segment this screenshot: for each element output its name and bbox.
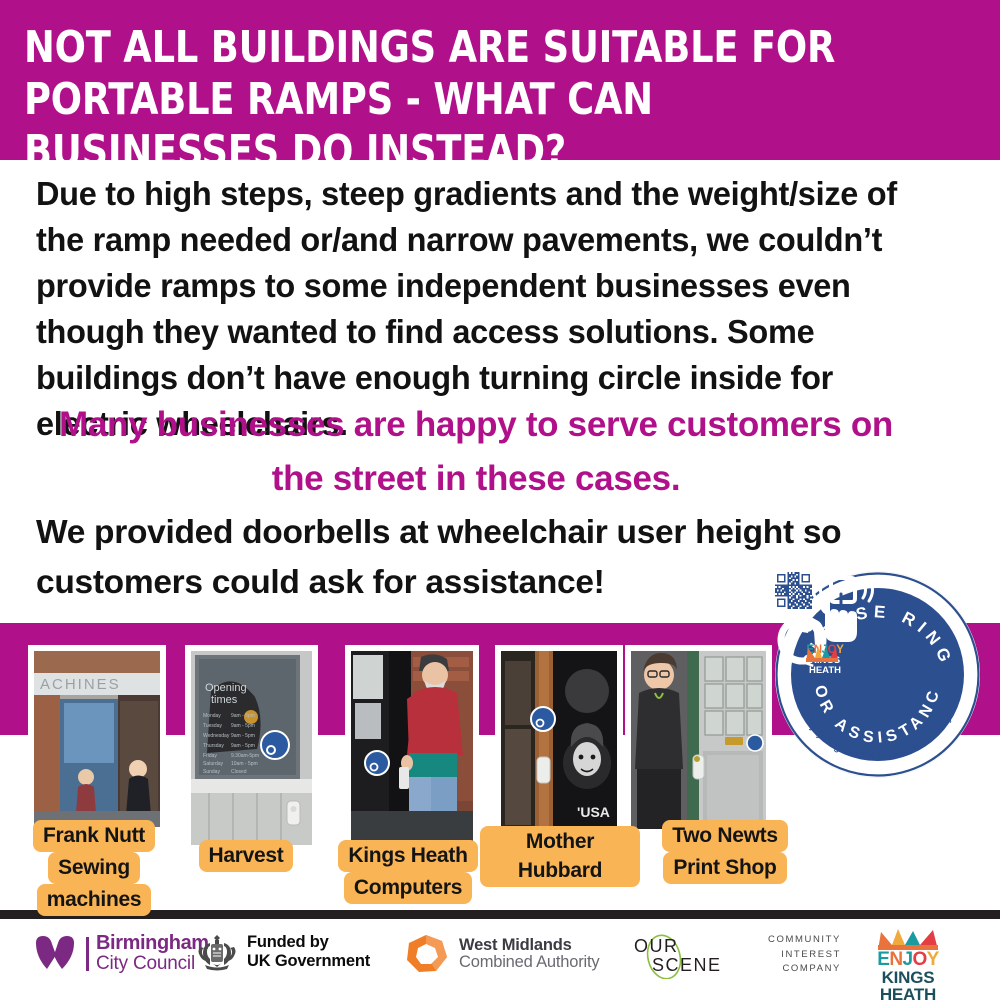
- caption-line: Computers: [344, 872, 472, 904]
- please-ring-for-assistance-badge[interactable]: PLEASE RING FOR ASSISTANCE enjoykingshea…: [775, 572, 980, 777]
- svg-text:Tuesday: Tuesday: [203, 723, 222, 729]
- shopfront-photo-harvest: Opening times Monday9am - 5pm Tuesday9am…: [191, 651, 312, 845]
- ekh-kings-text: KINGS: [876, 969, 940, 986]
- photo-caption-3: Kings Heath Computers: [338, 840, 478, 904]
- svg-text:Friday: Friday: [203, 753, 217, 759]
- svg-text:Opening: Opening: [205, 682, 247, 694]
- logo-line-2: Combined Authority: [459, 954, 599, 971]
- svg-text:ACHINES: ACHINES: [40, 676, 121, 693]
- logo-uk-government: Funded by UK Government: [196, 933, 370, 971]
- crown-icon: [805, 645, 839, 662]
- photo-image-4: 'USA: [501, 651, 617, 831]
- photo-frame-5: [625, 645, 772, 835]
- svg-text:9.30am-5pm: 9.30am-5pm: [231, 753, 259, 759]
- poster-canvas: NOT ALL BUILDINGS ARE SUITABLE FOR PORTA…: [0, 0, 1000, 1000]
- photo-caption-2: Harvest: [185, 840, 307, 872]
- badge-logo-heath: HEATH: [805, 666, 845, 676]
- shopfront-photo-kings-heath-computers: [351, 651, 473, 846]
- svg-text:Sunday: Sunday: [203, 769, 220, 775]
- footer-logo-bar: Birmingham City Council: [0, 919, 1000, 1000]
- photo-image-3: [351, 651, 473, 846]
- caption-line: Frank Nutt: [33, 820, 155, 852]
- badge-enjoy-kings-heath-logo: ENJOY KINGS HEATH: [805, 645, 845, 676]
- svg-text:Closed: Closed: [231, 769, 247, 775]
- svg-text:Wednesday: Wednesday: [203, 733, 230, 739]
- shopfront-photo-mother-hubbard: 'USA: [501, 651, 617, 831]
- photo-frame-3: [345, 645, 479, 852]
- highlight-paragraph: Many businesses are happy to serve custo…: [36, 398, 976, 506]
- photo-image-2: Opening times Monday9am - 5pm Tuesday9am…: [191, 651, 312, 845]
- logo-line-2: UK Government: [247, 952, 370, 971]
- cic-line-2: INTEREST: [768, 948, 841, 963]
- svg-text:9am - 5pm: 9am - 5pm: [231, 743, 255, 749]
- photo-caption-5: Two Newts Print Shop: [660, 820, 790, 884]
- birmingham-heart-icon: [34, 935, 82, 973]
- photo-caption-4: Mother Hubbard: [480, 826, 640, 887]
- logo-line-2: City Council: [96, 954, 209, 974]
- closing-paragraph: We provided doorbells at wheelchair user…: [36, 508, 856, 608]
- svg-text:OUR: OUR: [634, 936, 679, 956]
- logo-line-1: Funded by: [247, 933, 370, 952]
- caption-line: Two Newts: [662, 820, 787, 852]
- photo-frame-1: ACHINES: [28, 645, 166, 833]
- ekh-logo-block: ENJOY KINGS HEATH: [876, 928, 940, 1000]
- shopfront-photo-two-newts: [631, 651, 766, 829]
- logo-line-1: Birmingham: [96, 933, 209, 954]
- our-scene-wordmark-icon: OUR SCENE: [632, 931, 754, 979]
- svg-text:times: times: [211, 694, 238, 706]
- photo-frame-4: 'USA: [495, 645, 623, 837]
- caption-line: Print Shop: [663, 852, 786, 884]
- photo-frame-2: Opening times Monday9am - 5pm Tuesday9am…: [185, 645, 318, 851]
- caption-line: machines: [37, 884, 151, 916]
- svg-text:10am - 5pm: 10am - 5pm: [231, 761, 258, 767]
- svg-text:9am - 5pm: 9am - 5pm: [231, 723, 255, 729]
- shopfront-photo-frank-nutt: ACHINES: [34, 651, 160, 827]
- logo-line-1: West Midlands: [459, 937, 599, 954]
- cic-line-3: COMPANY: [768, 962, 841, 977]
- svg-text:Thursday: Thursday: [203, 743, 224, 749]
- wmca-hexagon-icon: [402, 933, 450, 975]
- caption-line: Kings Heath: [338, 840, 477, 872]
- ekh-heath-text: HEATH: [876, 986, 940, 1000]
- photo-image-5: [631, 651, 766, 829]
- photo-caption-1: Frank Nutt Sewing machines: [24, 820, 164, 916]
- svg-text:9am - 5pm: 9am - 5pm: [231, 713, 255, 719]
- logo-enjoy-kings-heath: ENJOY KINGS HEATH: [876, 928, 940, 1000]
- ukgov-logo-text: Funded by UK Government: [247, 933, 370, 971]
- svg-text:'USA: 'USA: [577, 804, 610, 820]
- royal-coat-of-arms-icon: [196, 933, 238, 971]
- logo-our-scene: OUR SCENE COMMUNITY INTEREST COMPANY: [632, 931, 841, 979]
- logo-west-midlands-combined-authority: West Midlands Combined Authority: [402, 933, 599, 975]
- birmingham-logo-text: Birmingham City Council: [96, 933, 209, 974]
- svg-text:SCENE: SCENE: [652, 955, 722, 975]
- logo-birmingham-city-council: Birmingham City Council: [34, 933, 209, 974]
- logo-divider-bar: [86, 937, 89, 971]
- svg-text:9am - 5pm: 9am - 5pm: [231, 733, 255, 739]
- photo-image-1: ACHINES: [34, 651, 160, 827]
- page-title: NOT ALL BUILDINGS ARE SUITABLE FOR PORTA…: [24, 22, 917, 178]
- caption-line: Sewing: [48, 852, 140, 884]
- caption-line: Harvest: [199, 840, 294, 872]
- our-scene-cic-text: COMMUNITY INTEREST COMPANY: [768, 933, 841, 977]
- qr-code-icon[interactable]: [775, 572, 812, 609]
- ekh-enjoy-text: ENJOY: [876, 950, 940, 969]
- wmca-logo-text: West Midlands Combined Authority: [459, 937, 599, 972]
- cic-line-1: COMMUNITY: [768, 933, 841, 948]
- svg-text:Saturday: Saturday: [203, 761, 224, 767]
- crown-icon: [876, 928, 940, 950]
- svg-text:Monday: Monday: [203, 713, 221, 719]
- caption-line: Mother Hubbard: [480, 826, 640, 887]
